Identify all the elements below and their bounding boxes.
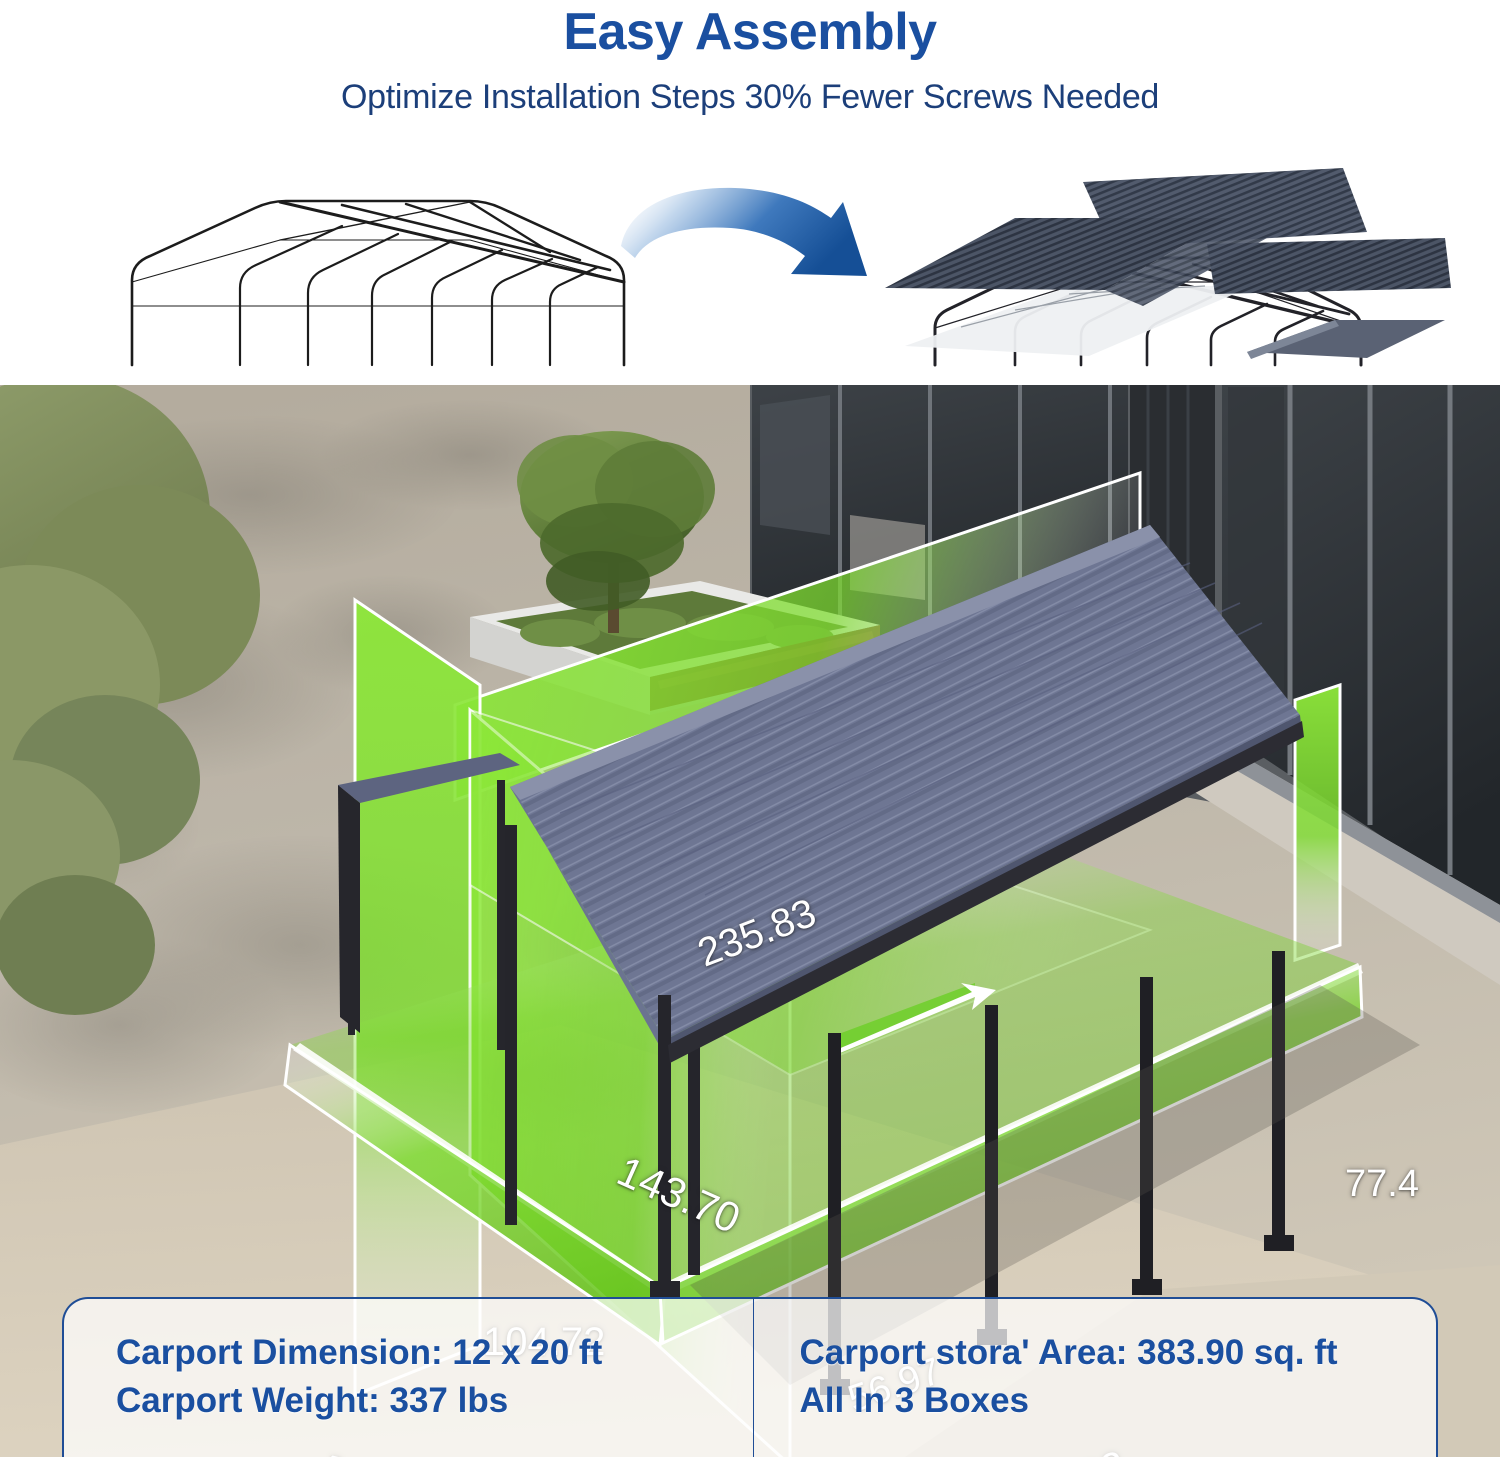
carport-frame-wireframe-icon	[110, 160, 640, 370]
page-subtitle: Optimize Installation Steps 30% Fewer Sc…	[0, 78, 1500, 117]
spec-box-dimension: Carport Dimension: 12 x 20 ft Carport We…	[62, 1297, 754, 1457]
carport-with-roof-panels-icon	[875, 160, 1455, 370]
spec-carport-weight: Carport Weight: 337 lbs	[116, 1377, 753, 1425]
page-title: Easy Assembly	[0, 2, 1500, 62]
spec-carport-dimension: Carport Dimension: 12 x 20 ft	[116, 1329, 753, 1377]
spec-storage-area: Carport stora' Area: 383.90 sq. ft	[800, 1329, 1437, 1377]
spec-box-count: All In 3 Boxes	[800, 1377, 1437, 1425]
header-section: Easy Assembly Optimize Installation Step…	[0, 0, 1500, 385]
spec-box-area: Carport stora' Area: 383.90 sq. ft All I…	[754, 1297, 1439, 1457]
curved-blue-arrow-icon	[615, 180, 885, 330]
specs-info-bar: Carport Dimension: 12 x 20 ft Carport We…	[62, 1297, 1438, 1457]
